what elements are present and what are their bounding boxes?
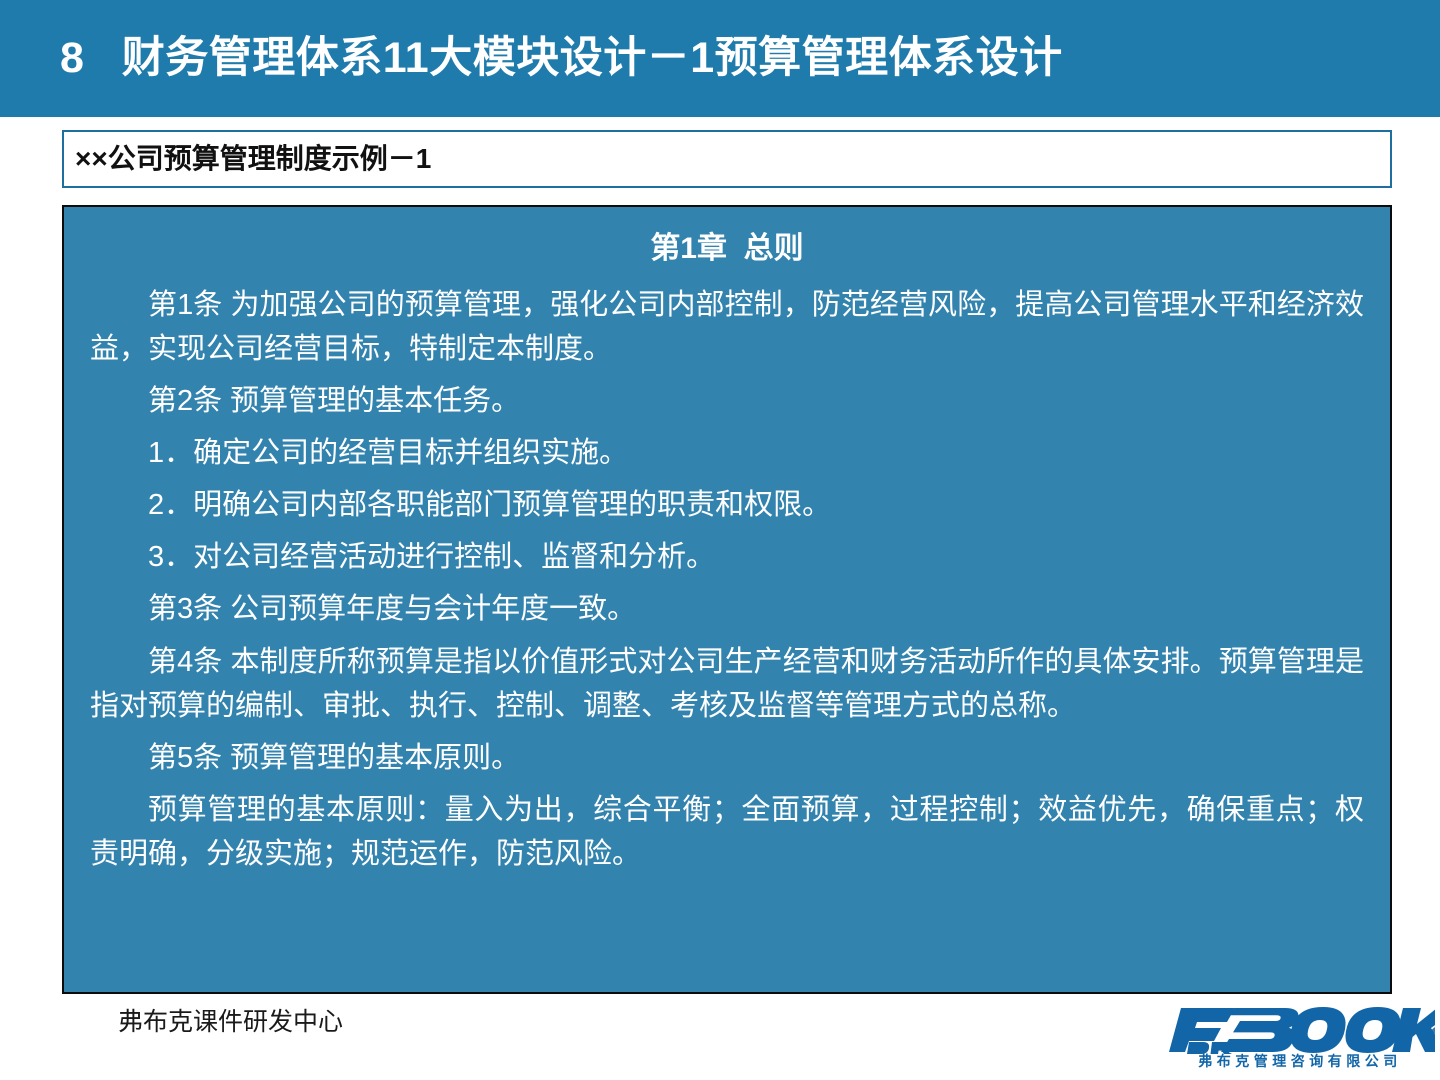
logo-company-name: 弗布克管理咨询有限公司 bbox=[1175, 1054, 1425, 1068]
article-paragraph: 第3条 公司预算年度与会计年度一致。 bbox=[90, 587, 1364, 631]
list-item: 1．确定公司的经营目标并组织实施。 bbox=[90, 431, 1364, 475]
list-item: 3．对公司经营活动进行控制、监督和分析。 bbox=[90, 535, 1364, 579]
article-paragraph: 第1条 为加强公司的预算管理，强化公司内部控制，防范经营风险，提高公司管理水平和… bbox=[90, 283, 1364, 371]
article-paragraph: 预算管理的基本原则：量入为出，综合平衡；全面预算，过程控制；效益优先，确保重点；… bbox=[90, 788, 1364, 876]
slide-header-bar: 8 财务管理体系11大模块设计－1预算管理体系设计 bbox=[0, 0, 1440, 117]
article-paragraph: 第4条 本制度所称预算是指以价值形式对公司生产经营和财务活动所作的具体安排。预算… bbox=[90, 640, 1364, 728]
chapter-heading: 第1章 总则 bbox=[90, 231, 1364, 267]
article-paragraph: 第2条 预算管理的基本任务。 bbox=[90, 379, 1364, 423]
forbook-wordmark-icon bbox=[1163, 1002, 1435, 1058]
slide-root: 8 财务管理体系11大模块设计－1预算管理体系设计 ××公司预算管理制度示例－1… bbox=[0, 0, 1440, 1080]
forbook-logo: 弗布克管理咨询有限公司 bbox=[1163, 1002, 1435, 1076]
page-title: 8 财务管理体系11大模块设计－1预算管理体系设计 bbox=[60, 0, 1063, 117]
article-paragraph: 第5条 预算管理的基本原则。 bbox=[90, 736, 1364, 780]
footer-center-label: 弗布克课件研发中心 bbox=[118, 1010, 343, 1035]
subtitle-box: ××公司预算管理制度示例－1 bbox=[62, 130, 1392, 188]
list-item: 2．明确公司内部各职能部门预算管理的职责和权限。 bbox=[90, 483, 1364, 527]
content-panel: 第1章 总则 第1条 为加强公司的预算管理，强化公司内部控制，防范经营风险，提高… bbox=[62, 205, 1392, 994]
subtitle-label: ××公司预算管理制度示例－1 bbox=[64, 145, 431, 173]
